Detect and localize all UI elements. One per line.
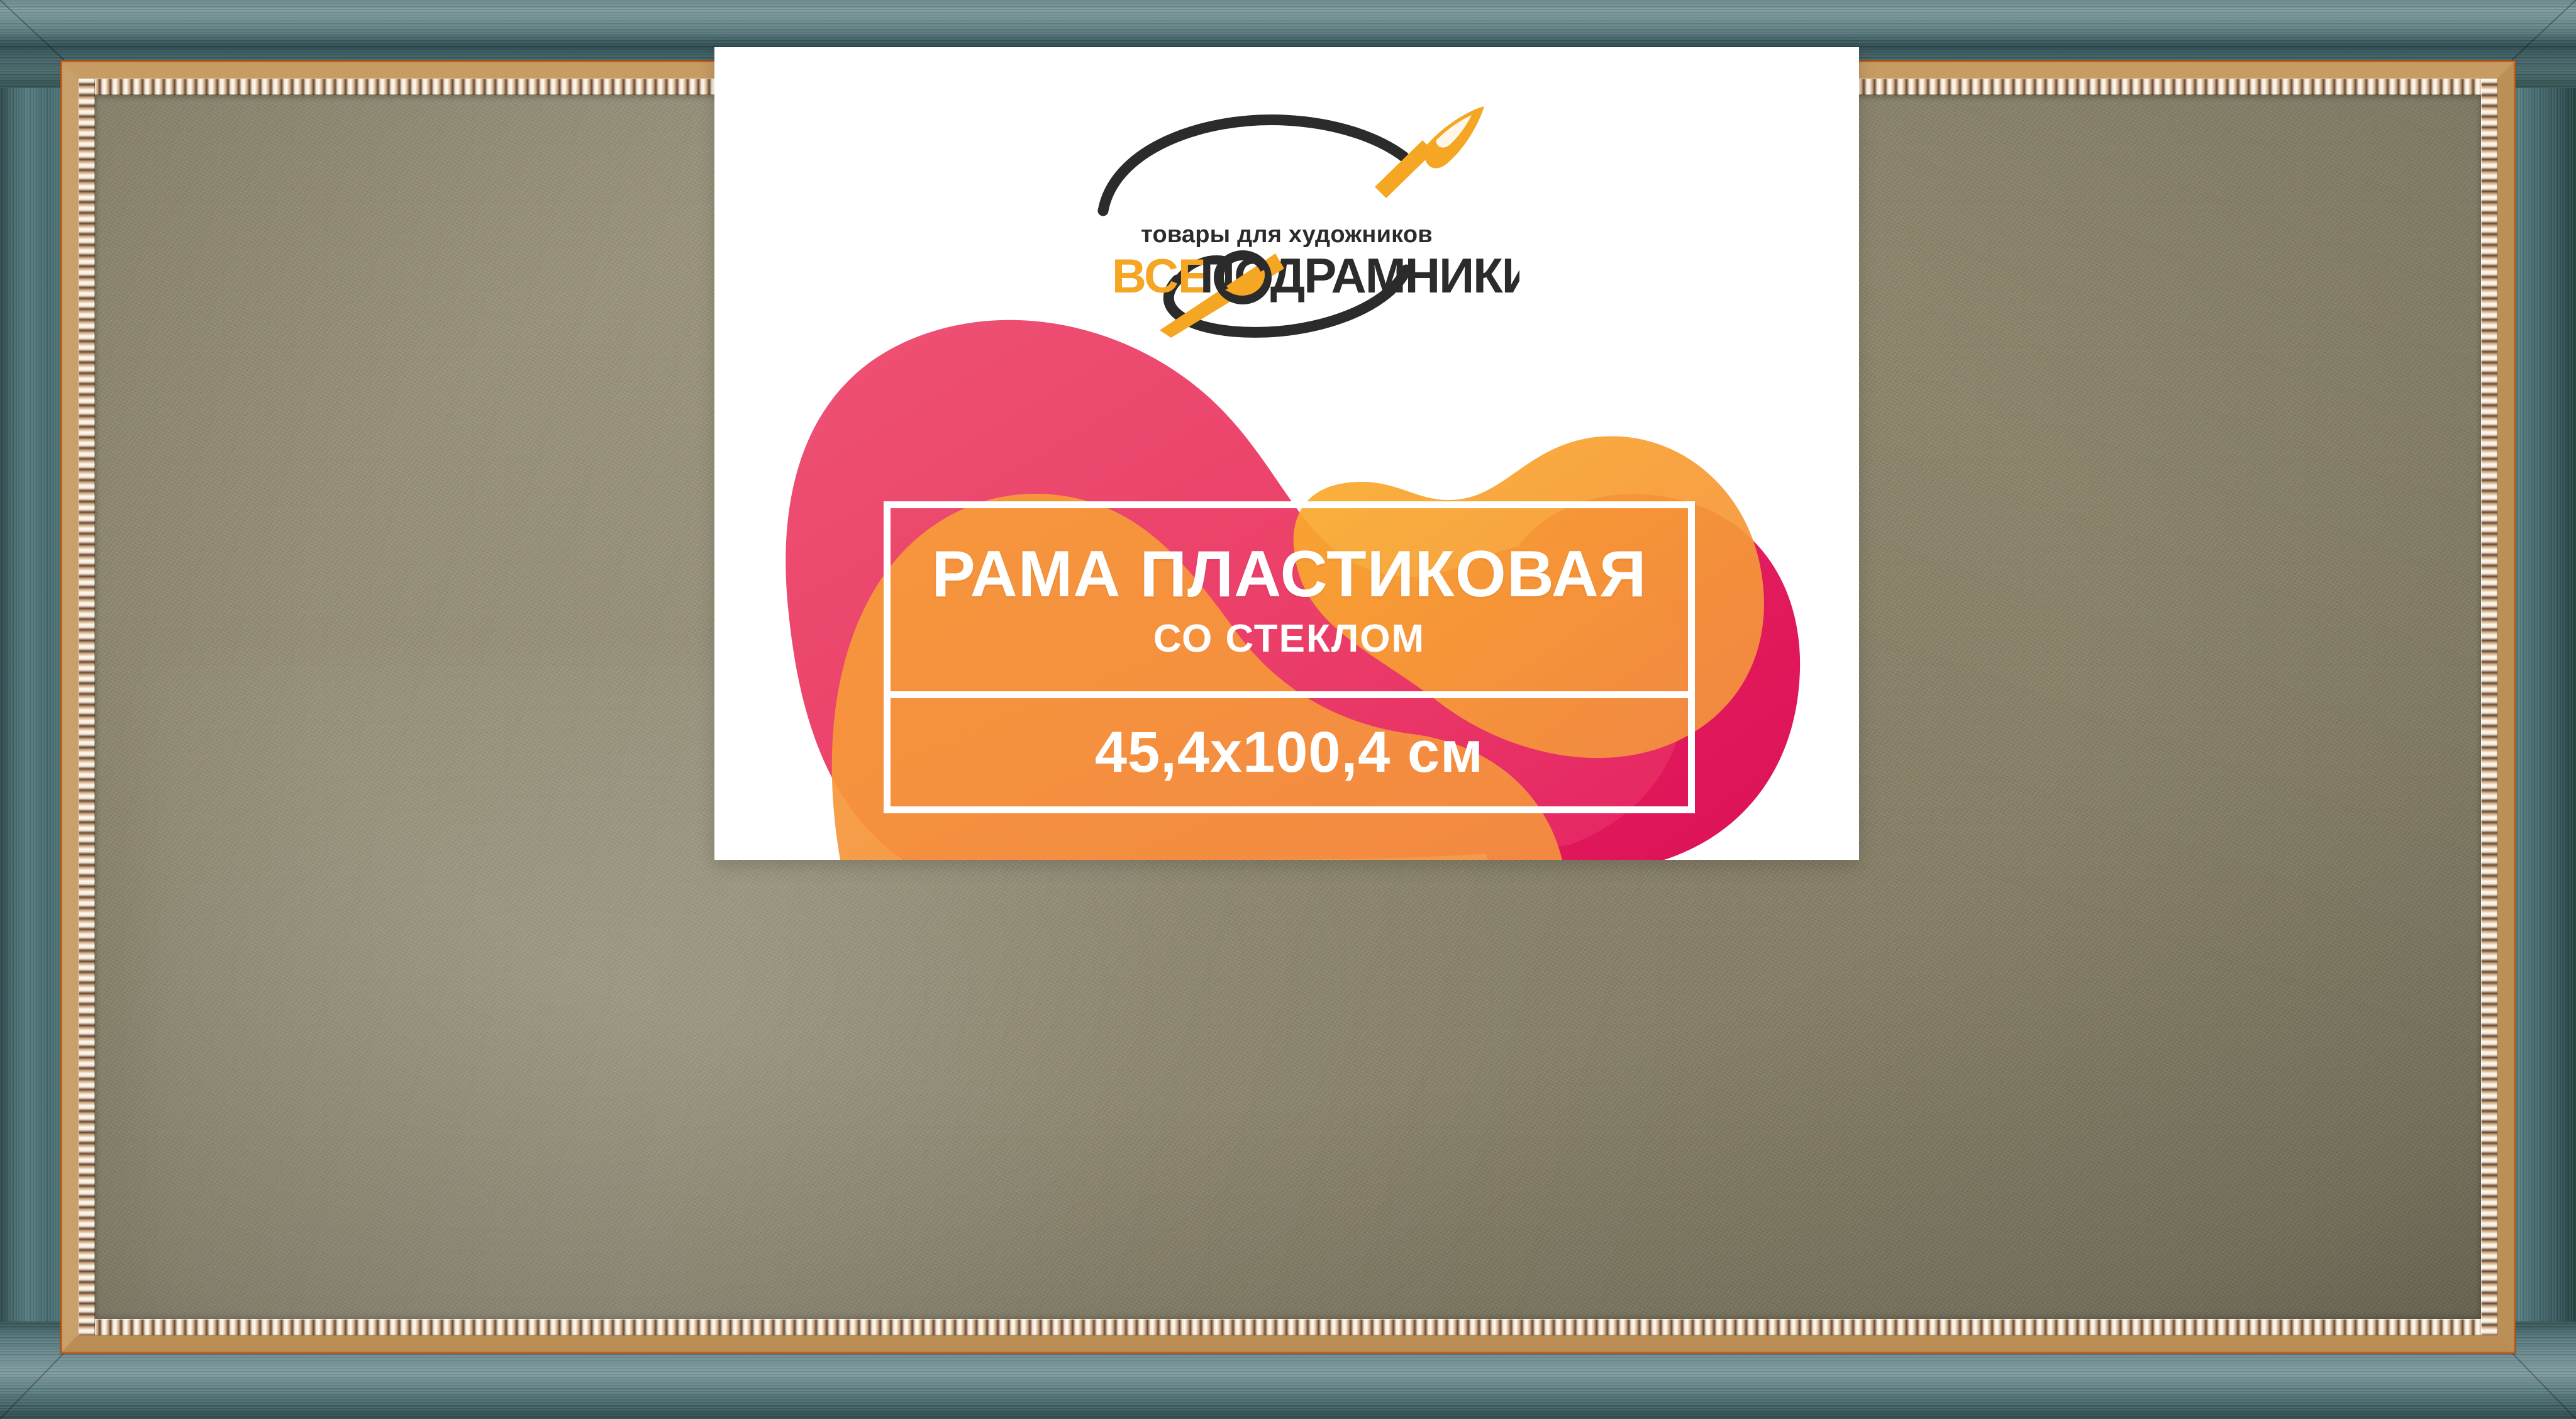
- callout-subtitle: СО СТЕКЛОМ: [1153, 620, 1425, 659]
- callout-title-zone: РАМА ПЛАСТИКОВАЯ СО СТЕКЛОМ: [891, 508, 1688, 691]
- callout-frame: РАМА ПЛАСТИКОВАЯ СО СТЕКЛОМ 45,4х100,4 с…: [884, 501, 1695, 813]
- product-photo-stage: товары для художников ВСЕ ПОДРАМНИКИ РАМ…: [0, 0, 2576, 1419]
- logo-tagline: товары для художников: [1141, 221, 1433, 248]
- product-label-card: товары для художников ВСЕ ПОДРАМНИКИ РАМ…: [714, 47, 1859, 860]
- brand-logo-svg: товары для художников ВСЕ ПОДРАМНИКИ: [1054, 91, 1519, 343]
- ellipse-swoosh-icon-top: [1103, 120, 1404, 211]
- logo-brand-prefix: ВСЕ: [1112, 250, 1209, 303]
- callout-title: РАМА ПЛАСТИКОВАЯ: [931, 542, 1646, 607]
- brand-logo: товары для художников ВСЕ ПОДРАМНИКИ: [714, 91, 1859, 343]
- callout-size: 45,4х100,4 см: [1095, 723, 1484, 781]
- callout-divider: [891, 691, 1688, 698]
- callout-size-zone: 45,4х100,4 см: [891, 698, 1688, 806]
